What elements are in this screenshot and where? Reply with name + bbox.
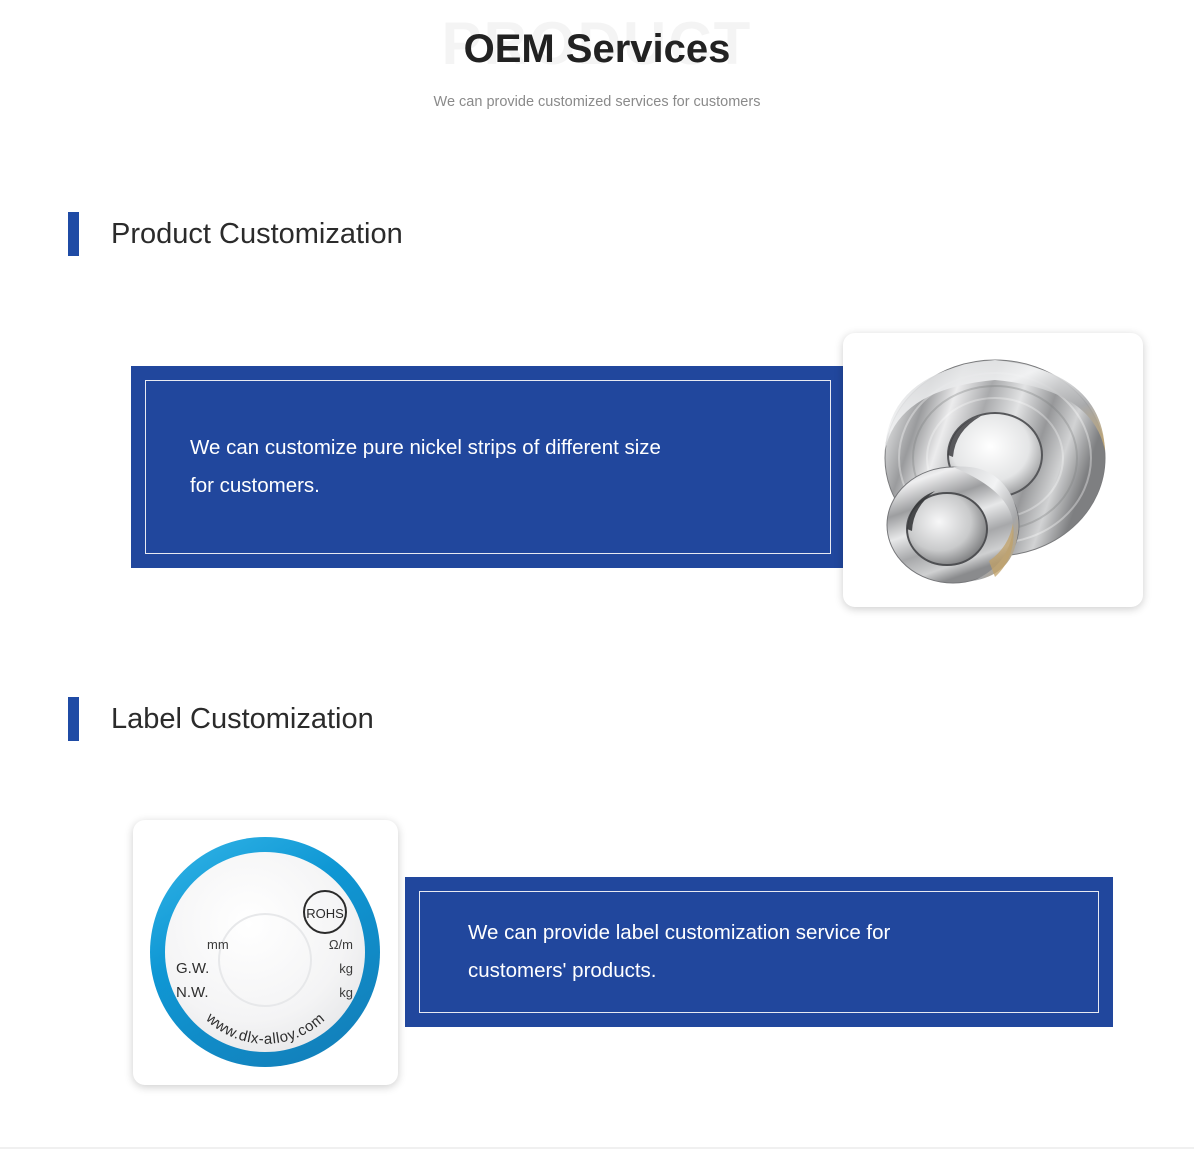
section-accent-bar — [68, 697, 79, 741]
page-title: OEM Services — [0, 26, 1194, 72]
nickel-strip-coils-image-card — [843, 333, 1143, 607]
section-heading-product-customization: Product Customization — [68, 212, 403, 256]
label-field-gross-weight: G.W. — [176, 960, 209, 977]
panel-text-line-2: customers' products. — [468, 952, 890, 990]
label-unit-kg-2: kg — [339, 985, 353, 1000]
small-coil — [887, 467, 1019, 583]
panel-text-line-2: for customers. — [190, 467, 661, 505]
rohs-badge-text: ROHS — [306, 906, 344, 921]
panel-text-line-1: We can customize pure nickel strips of d… — [190, 429, 661, 467]
product-label-image-card: ROHS mm G.W. N.W. Ω/m kg kg www.dlx-allo… — [133, 820, 398, 1085]
label-unit-resistance: Ω/m — [329, 937, 353, 952]
nickel-strip-coils-icon — [843, 333, 1143, 607]
panel-text-block: We can customize pure nickel strips of d… — [146, 429, 691, 505]
section-accent-bar — [68, 212, 79, 256]
label-unit-kg-1: kg — [339, 961, 353, 976]
label-field-net-weight: N.W. — [176, 984, 209, 1001]
product-customization-panel: We can customize pure nickel strips of d… — [131, 366, 845, 568]
panel-inner-border: We can provide label customization servi… — [419, 891, 1099, 1013]
page-header: PRODUCT OEM Services We can provide cust… — [0, 0, 1194, 110]
label-field-mm: mm — [207, 937, 229, 952]
panel-text-block: We can provide label customization servi… — [420, 914, 920, 990]
page-subtitle: We can provide customized services for c… — [0, 94, 1194, 110]
label-customization-panel: We can provide label customization servi… — [405, 877, 1113, 1027]
section-heading-label-customization: Label Customization — [68, 697, 374, 741]
bottom-divider — [0, 1147, 1194, 1149]
section-title-label: Label Customization — [111, 703, 374, 736]
label-face — [165, 852, 365, 1052]
panel-inner-border: We can customize pure nickel strips of d… — [145, 380, 831, 554]
section-title-label: Product Customization — [111, 218, 403, 251]
circular-label-icon: ROHS mm G.W. N.W. Ω/m kg kg www.dlx-allo… — [133, 820, 398, 1085]
panel-text-line-1: We can provide label customization servi… — [468, 914, 890, 952]
